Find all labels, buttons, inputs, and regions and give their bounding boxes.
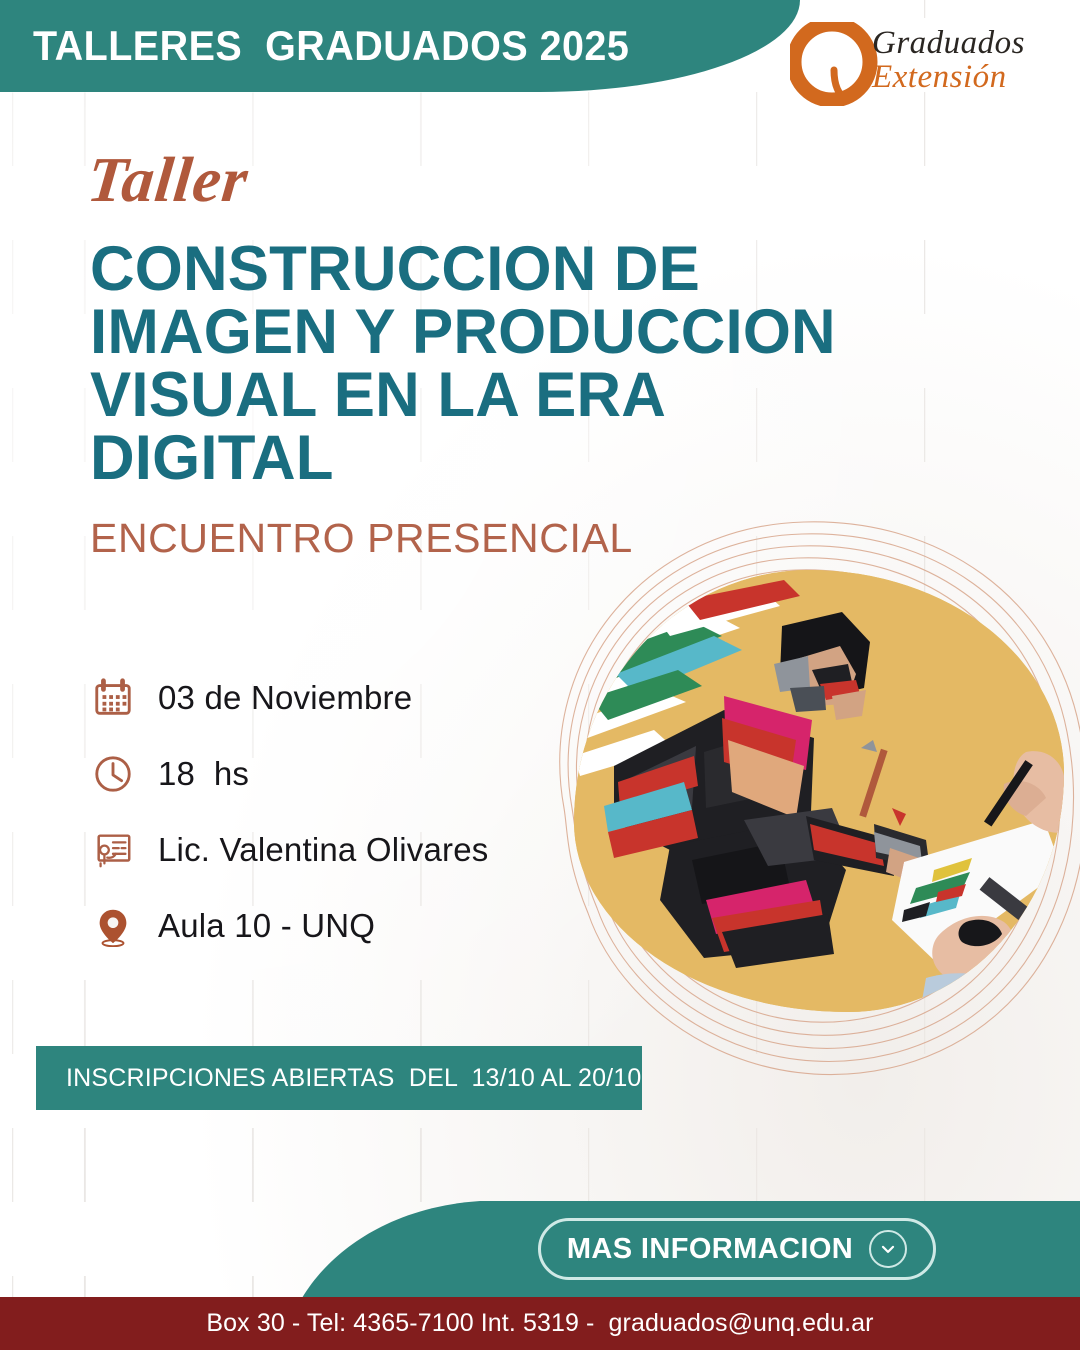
clock-icon bbox=[90, 751, 136, 797]
list-item: 18 hs bbox=[90, 736, 560, 812]
mas-informacion-label: MAS INFORMACION bbox=[567, 1233, 853, 1266]
poster-canvas: TALLERES GRADUADOS 2025 Graduados Extens… bbox=[0, 0, 1080, 1350]
eyebrow-taller: Taller bbox=[84, 143, 252, 217]
page-title: CONSTRUCCION DE IMAGEN Y PRODUCCION VISU… bbox=[90, 238, 903, 490]
presentation-icon bbox=[90, 827, 136, 873]
detail-time: 18 hs bbox=[158, 755, 249, 793]
logo-q-icon bbox=[790, 22, 878, 106]
logo-line-graduados: Graduados bbox=[872, 27, 1025, 61]
registration-banner-text: INSCRIPCIONES ABIERTAS DEL 13/10 AL 20/1… bbox=[66, 1064, 642, 1093]
detail-date: 03 de Noviembre bbox=[158, 679, 412, 717]
list-item: Lic. Valentina Olivares bbox=[90, 812, 560, 888]
calendar-icon bbox=[90, 675, 136, 721]
detail-location: Aula 10 - UNQ bbox=[158, 907, 375, 945]
contact-footer-text: Box 30 - Tel: 4365-7100 Int. 5319 - grad… bbox=[206, 1309, 873, 1338]
logo-wordmark: Graduados Extensión bbox=[872, 27, 1025, 94]
brand-logo: Graduados Extensión bbox=[790, 22, 1040, 108]
detail-speaker: Lic. Valentina Olivares bbox=[158, 831, 488, 869]
artwork-illustration bbox=[556, 548, 1076, 1048]
list-item: Aula 10 - UNQ bbox=[90, 888, 560, 964]
chevron-down-icon[interactable] bbox=[869, 1230, 907, 1268]
collage-artwork bbox=[574, 570, 1064, 1012]
mas-informacion-button[interactable]: MAS INFORMACION bbox=[538, 1218, 936, 1280]
logo-line-extension: Extensión bbox=[872, 61, 1025, 95]
artwork-blob-mask bbox=[574, 570, 1064, 1012]
location-pin-icon bbox=[90, 903, 136, 949]
event-details-list: 03 de Noviembre 18 hs Lic. Valentin bbox=[90, 660, 560, 964]
header-title: TALLERES GRADUADOS 2025 bbox=[33, 20, 629, 72]
list-item: 03 de Noviembre bbox=[90, 660, 560, 736]
contact-footer-bar: Box 30 - Tel: 4365-7100 Int. 5319 - grad… bbox=[0, 1297, 1080, 1350]
registration-banner: INSCRIPCIONES ABIERTAS DEL 13/10 AL 20/1… bbox=[36, 1046, 642, 1110]
